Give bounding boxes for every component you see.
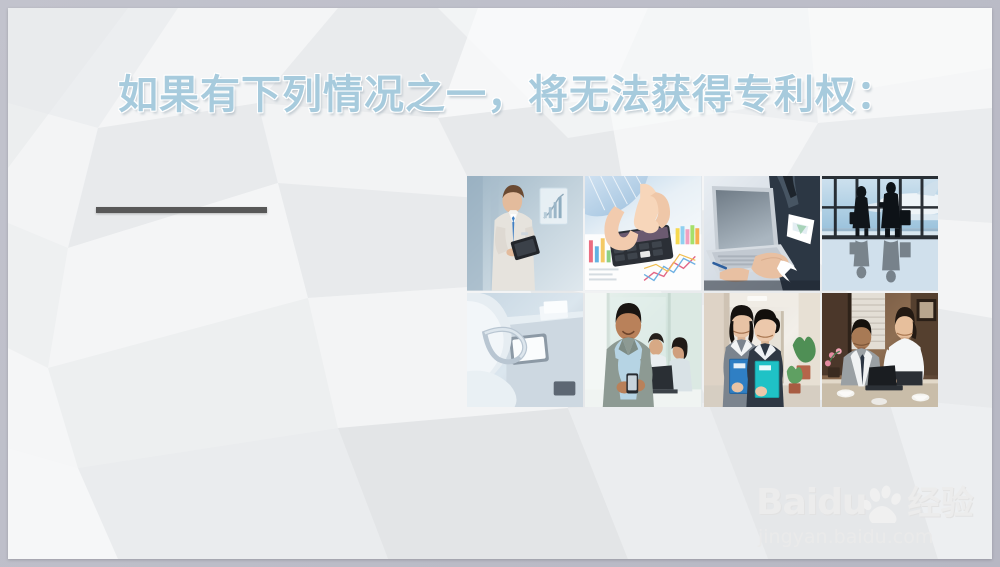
photo-businessman-with-tablet [467, 176, 583, 291]
baidu-watermark: Baidu 经验 jingyan.baidu.com [756, 481, 992, 547]
page-title: 如果有下列情况之一，将无法获得专利权： [118, 66, 958, 124]
title-block: 如果有下列情况之一，将无法获得专利权： [118, 66, 958, 130]
watermark-brand-cn: 经验 [907, 483, 973, 523]
photo-man-with-smartphone [585, 293, 701, 408]
slide-frame: 如果有下列情况之一，将无法获得专利权： [0, 0, 1000, 567]
photo-calculator-over-charts [585, 176, 701, 291]
photo-grid [467, 176, 938, 407]
watermark-url: jingyan.baidu.com [758, 526, 992, 548]
photo-laptop-typing-meeting [704, 176, 820, 291]
slide-canvas: 如果有下列情况之一，将无法获得专利权： [8, 8, 992, 559]
photo-boardroom-meeting-laptop [822, 293, 938, 408]
title-divider-bar [96, 207, 267, 213]
photo-office-chair-and-tablet [467, 293, 583, 408]
photo-two-businesswomen-with-folders [704, 293, 820, 408]
baidu-paw-icon [864, 485, 904, 523]
photo-airport-silhouettes [822, 176, 938, 291]
watermark-logo-row: Baidu 经验 [756, 481, 992, 523]
watermark-brand: Baidu [756, 483, 866, 523]
